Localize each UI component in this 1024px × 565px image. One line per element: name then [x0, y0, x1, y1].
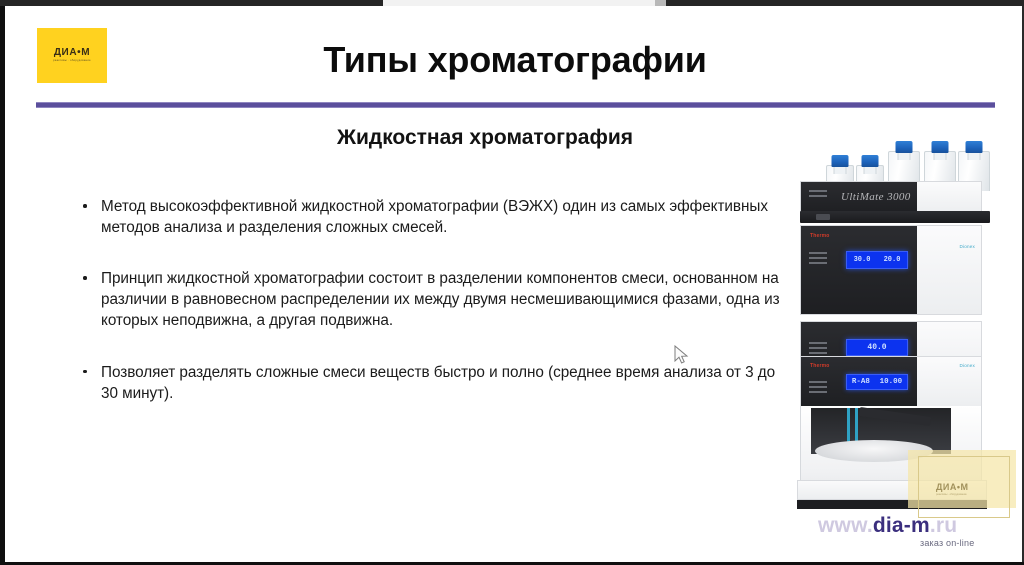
- status-led: [809, 381, 827, 383]
- oven-lcd-display: 40.0: [846, 339, 908, 356]
- presentation-slide: ДИА•М реактивы · оборудование Типы хрома…: [5, 6, 1022, 562]
- bullet-text: Принцип жидкостной хроматографии состоит…: [101, 270, 780, 329]
- window-chrome-nub: [655, 0, 666, 6]
- title-divider: [36, 102, 995, 108]
- watermark-order-text: заказ on-line: [920, 538, 974, 548]
- status-led: [809, 262, 827, 264]
- status-led: [809, 252, 827, 254]
- status-led: [809, 347, 827, 349]
- list-item: Метод высокоэффективной жидкостной хрома…: [77, 196, 789, 238]
- bottle-neck: [968, 152, 981, 160]
- status-leds: [809, 190, 827, 200]
- company-logo-word: ДИА•М: [54, 48, 90, 58]
- detector-lcd-channel: R-A8: [852, 378, 870, 386]
- status-led: [809, 386, 827, 388]
- module-handle: [816, 214, 830, 220]
- screenshot-root: ДИА•М реактивы · оборудование Типы хрома…: [0, 0, 1024, 565]
- instrument-module-pump: Thermo 30.0 20.0 Dionex: [800, 225, 982, 315]
- bullet-list: Метод высокоэффективной жидкостной хрома…: [77, 196, 789, 404]
- company-logo-tagline: реактивы · оборудование: [53, 60, 91, 63]
- oven-lcd-value: 40.0: [867, 343, 886, 352]
- dionex-tag: Dionex: [960, 363, 976, 368]
- module-side-panel: [917, 182, 981, 214]
- bottle-cap-icon: [832, 155, 849, 167]
- company-logo: ДИА•М реактивы · оборудование: [37, 28, 107, 83]
- bottle-cap-icon: [932, 141, 949, 153]
- status-leds: [809, 381, 827, 396]
- pump-lcd-left-value: 30.0: [854, 256, 871, 264]
- bottle-neck: [898, 152, 911, 160]
- watermark-url-prefix: www.: [818, 514, 873, 537]
- bullet-dot-icon: [83, 370, 87, 374]
- bullet-text: Метод высокоэффективной жидкостной хрома…: [101, 198, 768, 236]
- instrument-divider-bar: [800, 211, 990, 223]
- bottle-cap-icon: [896, 141, 913, 153]
- bullet-dot-icon: [83, 204, 87, 208]
- dionex-tag: Dionex: [960, 244, 976, 249]
- status-leds: [809, 252, 827, 267]
- detector-lcd-value: 10.00: [880, 378, 903, 386]
- status-leds: [809, 342, 827, 357]
- bottle-neck: [934, 152, 947, 160]
- module-front-panel: [801, 226, 919, 314]
- list-item: Принцип жидкостной хроматографии состоит…: [77, 268, 789, 331]
- detector-lcd-display: R-A8 10.00: [846, 374, 908, 390]
- window-chrome-light-segment: [383, 0, 655, 6]
- instrument-model-label: UltiMate 3000: [841, 191, 911, 203]
- status-led: [809, 190, 827, 192]
- watermark-url-suffix: .ru: [930, 514, 957, 537]
- pump-lcd-display: 30.0 20.0: [846, 251, 908, 269]
- bullet-text: Позволяет разделять сложные смеси вещест…: [101, 364, 775, 402]
- status-led: [809, 342, 827, 344]
- watermark-logo-tagline: реактивы · оборудование: [936, 493, 967, 496]
- slide-frame-left: [0, 6, 5, 565]
- list-item: Позволяет разделять сложные смеси вещест…: [77, 362, 789, 404]
- hplc-instrument-image: UltiMate 3000 Thermo 30.0 20.0: [800, 141, 1000, 501]
- watermark-url: www.dia-m.ru: [818, 514, 957, 538]
- bottle-neck: [864, 166, 877, 174]
- brand-label: Thermo: [810, 233, 830, 239]
- brand-label: Thermo: [810, 363, 830, 369]
- pump-lcd-right-value: 20.0: [884, 256, 901, 264]
- status-led: [809, 391, 827, 393]
- status-led: [809, 195, 827, 197]
- instrument-module-autosampler-head: Thermo R-A8 10.00 Dionex: [800, 356, 982, 408]
- page-title: Типы хроматографии: [175, 40, 855, 80]
- instrument-module-top: UltiMate 3000: [800, 181, 982, 215]
- status-led: [809, 352, 827, 354]
- status-led: [809, 257, 827, 259]
- slide-subtitle: Жидкостная хроматография: [155, 126, 815, 150]
- bottle-cap-icon: [862, 155, 879, 167]
- module-side-panel: [917, 226, 981, 314]
- bottle-neck: [834, 166, 847, 174]
- watermark-url-core: dia-m: [873, 514, 930, 537]
- watermark-logo-word: ДИА•М: [936, 482, 969, 492]
- bottle-cap-icon: [966, 141, 983, 153]
- bullet-dot-icon: [83, 276, 87, 280]
